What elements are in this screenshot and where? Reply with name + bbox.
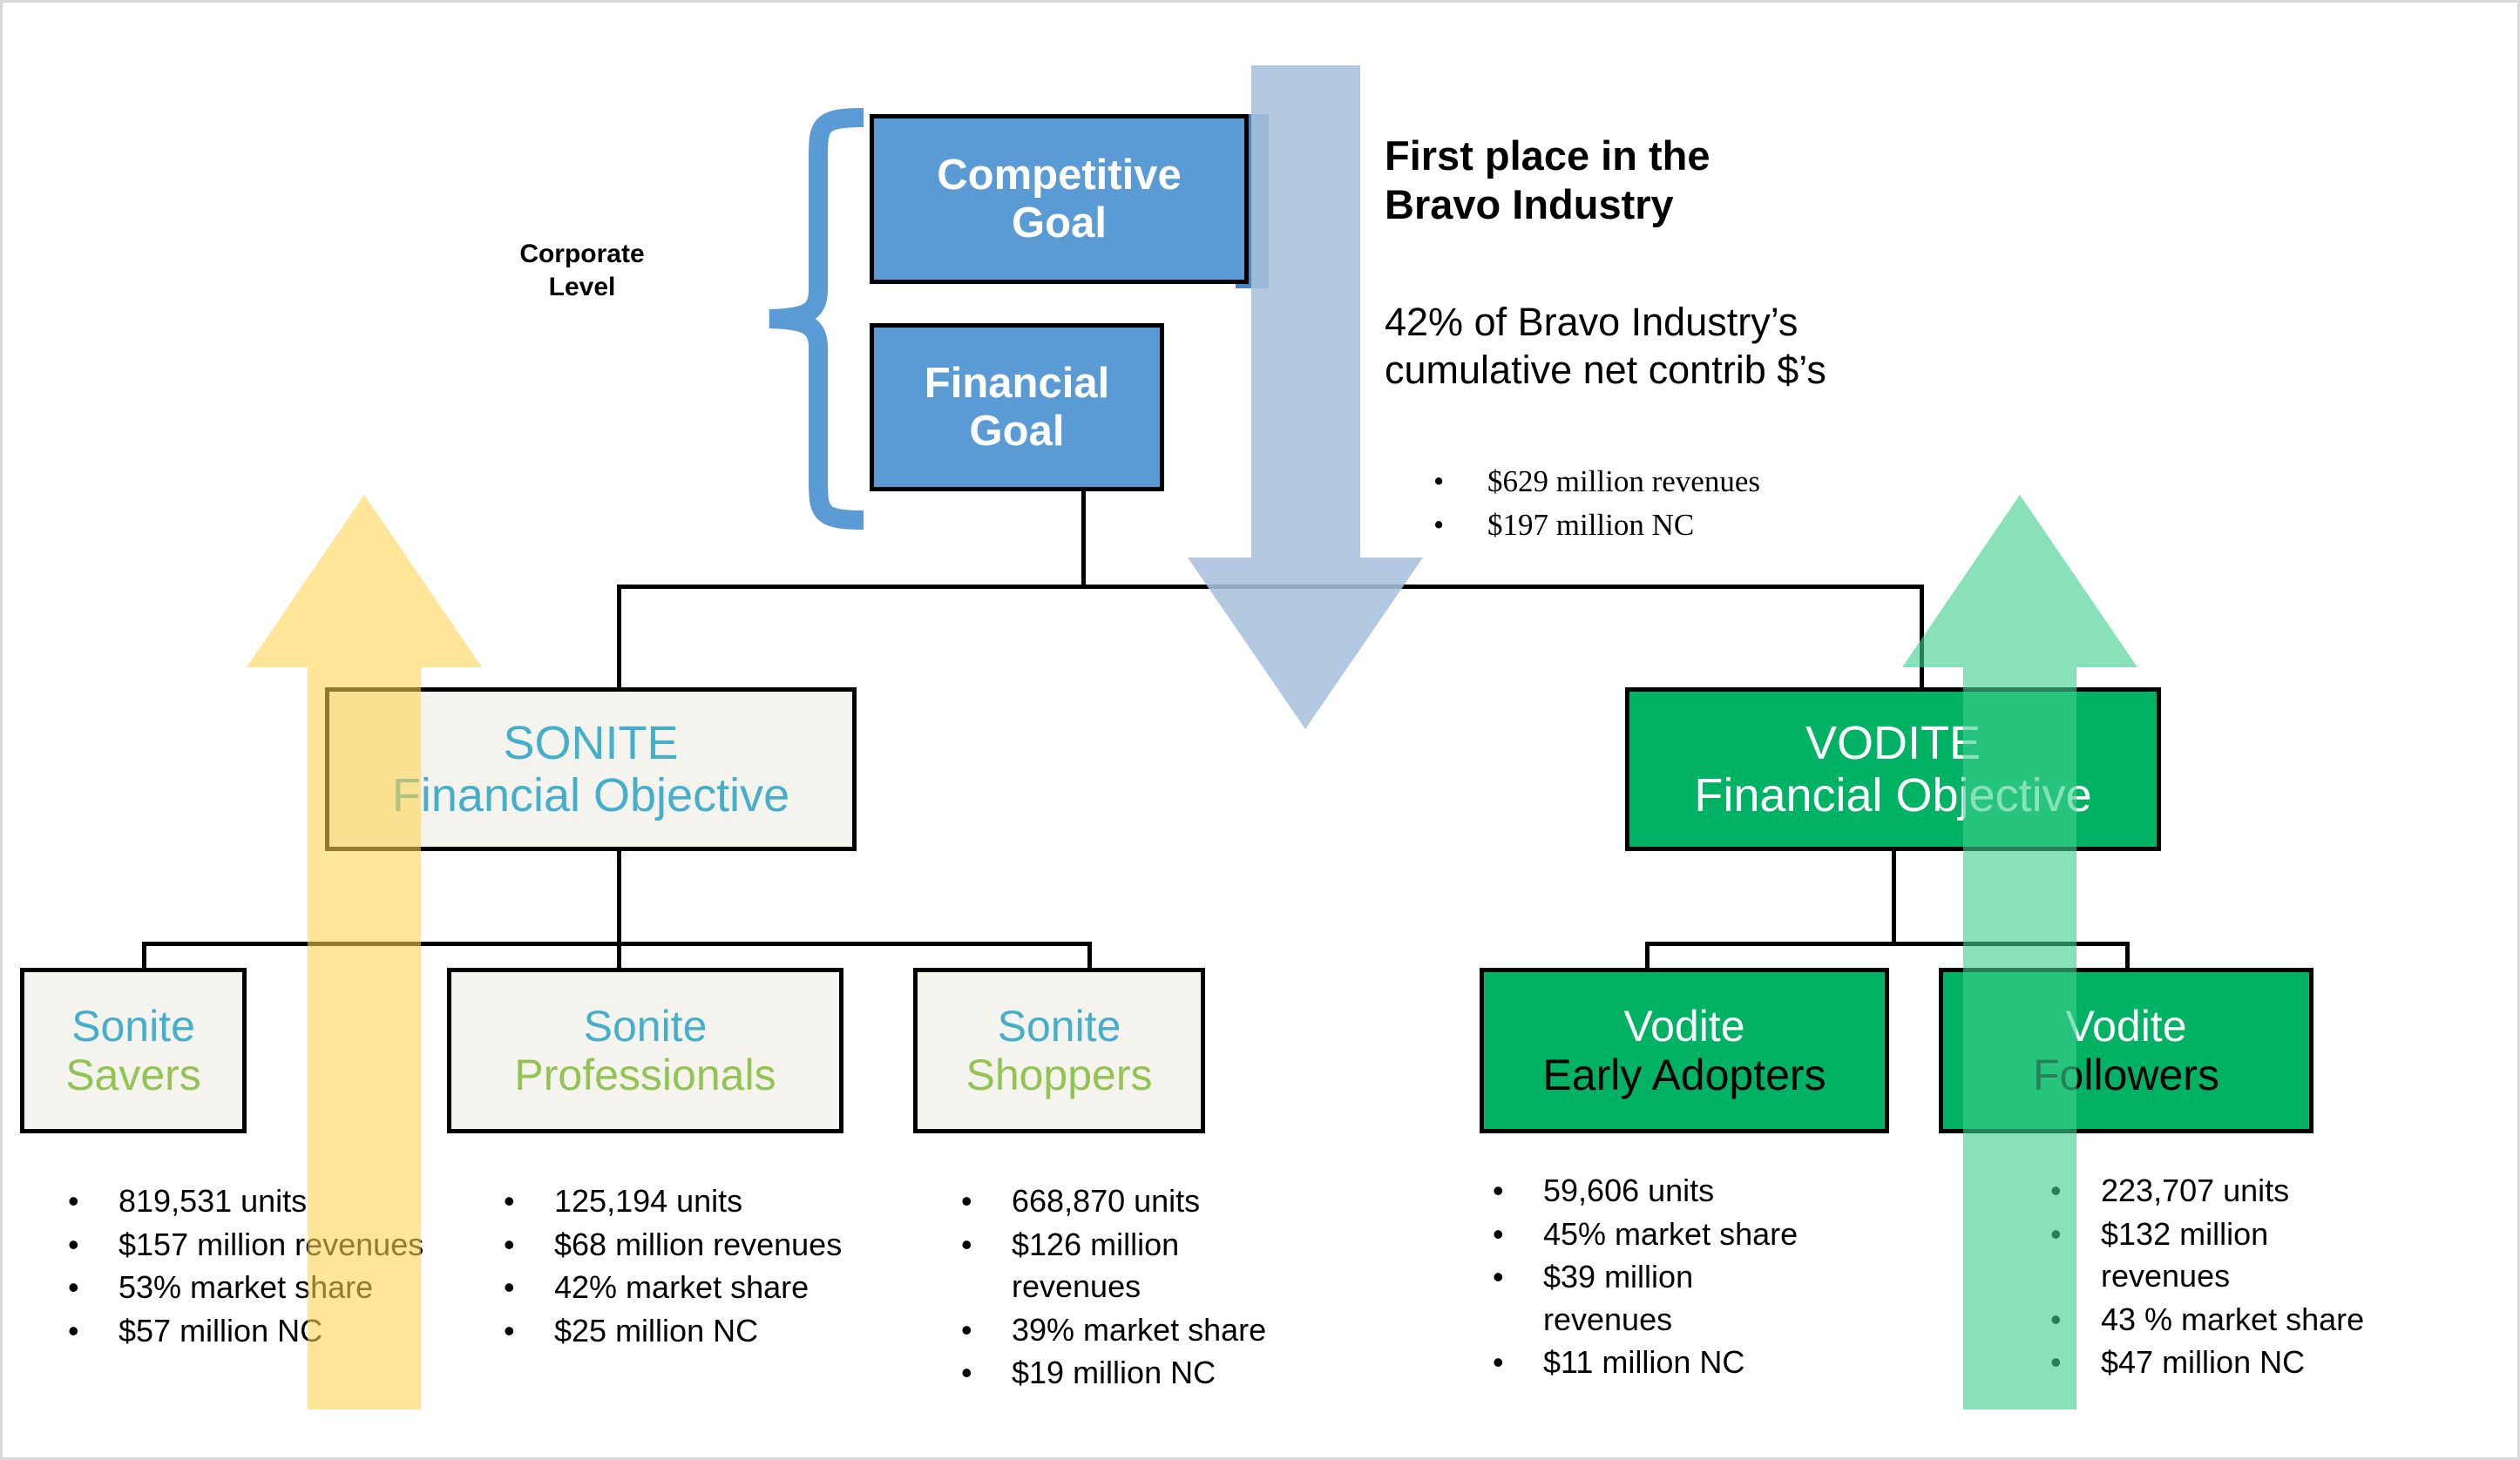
bullet-glyph: •: [1493, 1256, 1543, 1341]
list-item-text: $11 million NC: [1543, 1342, 1824, 1384]
list-item-text: 43 % market share: [2101, 1299, 2399, 1342]
list-item-text: $629 million revenues: [1487, 460, 1760, 504]
sonite-objective-line1: SONITE: [503, 717, 678, 769]
list-item: •$11 million NC: [1493, 1342, 1824, 1384]
up-arrow-icon-sonite: [247, 495, 482, 1409]
list-item-text: $25 million NC: [554, 1310, 852, 1353]
headline-title: First place in the Bravo Industry: [1385, 132, 1942, 230]
segment-box-sonite-shoppers[interactable]: Sonite Shoppers: [913, 968, 1205, 1133]
list-item-text: $19 million NC: [1012, 1352, 1310, 1395]
headline-line1: First place in the: [1385, 132, 1942, 180]
list-item: •$126 million revenues: [961, 1224, 1310, 1308]
diagram-canvas: Corporate Level Competitive Goal Financi…: [0, 0, 2520, 1460]
list-item-text: 59,606 units: [1543, 1170, 1824, 1213]
segment-name-line1: Sonite: [584, 1002, 708, 1051]
list-item: •$68 million revenues: [504, 1224, 852, 1267]
bullet-glyph: •: [68, 1267, 119, 1309]
bullet-glyph: •: [1433, 504, 1487, 547]
connector-financial-to-bus: [1081, 490, 1086, 588]
bullet-list-vodite-early-adopters: •59,606 units •45% market share •$39 mil…: [1493, 1170, 1824, 1385]
list-item: •59,606 units: [1493, 1170, 1824, 1213]
connector-bus-to-sonite: [617, 585, 621, 691]
left-curly-brace-icon: [757, 105, 870, 532]
list-item: •125,194 units: [504, 1180, 852, 1223]
bullet-glyph: •: [68, 1180, 119, 1223]
list-item: •$39 million revenues: [1493, 1256, 1824, 1341]
bullet-list-sonite-professionals: •125,194 units •$68 million revenues •42…: [504, 1180, 852, 1353]
segment-name-line2: Savers: [65, 1051, 201, 1099]
headline-sub-line1: 42% of Bravo Industry’s: [1385, 299, 2064, 347]
connector-vodite-down: [1892, 849, 1896, 945]
bullet-glyph: •: [961, 1224, 1012, 1308]
bullet-glyph: •: [961, 1309, 1012, 1352]
segment-name-line2: Shoppers: [965, 1051, 1152, 1099]
bullet-glyph: •: [1433, 460, 1487, 504]
list-item-text: $132 million revenues: [2101, 1213, 2399, 1298]
list-item: •45% market share: [1493, 1213, 1824, 1256]
segment-name-line2: Early Adopters: [1542, 1051, 1826, 1099]
financial-goal-box[interactable]: Financial Goal: [870, 323, 1164, 491]
headline-line2: Bravo Industry: [1385, 180, 1942, 229]
bullet-glyph: •: [1493, 1342, 1543, 1384]
bullet-glyph: •: [961, 1352, 1012, 1395]
list-item-text: $47 million NC: [2101, 1342, 2399, 1384]
bullet-glyph: •: [68, 1310, 119, 1353]
bullet-glyph: •: [1493, 1213, 1543, 1256]
down-arrow-icon: [1188, 65, 1423, 729]
list-item: •668,870 units: [961, 1180, 1310, 1223]
bullet-glyph: •: [504, 1310, 554, 1353]
competitive-goal-line2: Goal: [1012, 199, 1107, 247]
list-item-text: 223,707 units: [2101, 1170, 2399, 1213]
bullet-glyph: •: [68, 1224, 119, 1267]
bullet-glyph: •: [504, 1180, 554, 1223]
financial-goal-line2: Goal: [970, 408, 1065, 456]
up-arrow-icon-vodite: [1902, 495, 2137, 1409]
list-item-text: $126 million revenues: [1012, 1224, 1310, 1308]
bullet-glyph: •: [504, 1224, 554, 1267]
list-item-text: 125,194 units: [554, 1180, 852, 1223]
list-item-text: $197 million NC: [1487, 504, 1694, 547]
headline-subtitle: 42% of Bravo Industry’s cumulative net c…: [1385, 299, 2064, 395]
list-item: •$19 million NC: [961, 1352, 1310, 1395]
segment-box-sonite-savers[interactable]: Sonite Savers: [20, 968, 247, 1133]
list-item: •$25 million NC: [504, 1310, 852, 1353]
list-item-text: 39% market share: [1012, 1309, 1310, 1352]
segment-name-line1: Sonite: [998, 1002, 1121, 1051]
bullet-glyph: •: [961, 1180, 1012, 1223]
bullet-glyph: •: [504, 1267, 554, 1309]
list-item-text: 668,870 units: [1012, 1180, 1310, 1223]
headline-sub-line2: cumulative net contrib $’s: [1385, 347, 2064, 395]
list-item: •39% market share: [961, 1309, 1310, 1352]
competitive-goal-line1: Competitive: [937, 152, 1181, 199]
corporate-level-line1: Corporate: [486, 238, 678, 271]
list-item: •42% market share: [504, 1267, 852, 1309]
segment-name-line1: Vodite: [1623, 1002, 1744, 1051]
segment-box-sonite-professionals[interactable]: Sonite Professionals: [447, 968, 843, 1133]
financial-goal-line1: Financial: [925, 360, 1109, 408]
list-item-text: 45% market share: [1543, 1213, 1824, 1256]
segment-name-line2: Professionals: [514, 1051, 776, 1099]
list-item-text: $68 million revenues: [554, 1224, 852, 1267]
list-item-text: $39 million revenues: [1543, 1256, 1824, 1341]
segment-box-vodite-early-adopters[interactable]: Vodite Early Adopters: [1480, 968, 1889, 1133]
bullet-list-sonite-shoppers: •668,870 units •$126 million revenues •3…: [961, 1180, 1310, 1396]
connector-sonite-down: [617, 849, 621, 945]
segment-name-line1: Sonite: [71, 1002, 195, 1051]
corporate-level-label: Corporate Level: [486, 238, 678, 305]
list-item-text: 42% market share: [554, 1267, 852, 1309]
corporate-level-line2: Level: [486, 271, 678, 304]
bullet-glyph: •: [1493, 1170, 1543, 1213]
